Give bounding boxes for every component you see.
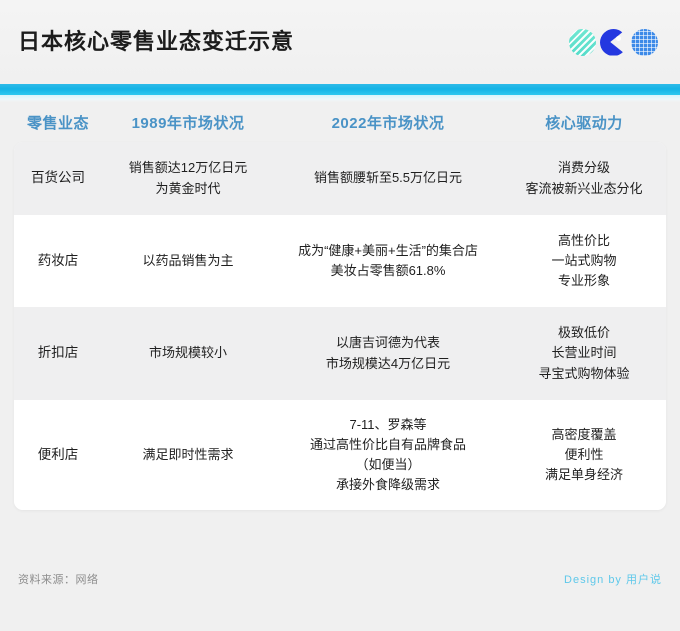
cell-line: 美妆占零售额61.8% <box>280 261 496 281</box>
cell-line: 市场规模较小 <box>108 343 268 363</box>
table-header-row: 零售业态 1989年市场状况 2022年市场状况 核心驱动力 <box>0 102 680 142</box>
cell-retail-format: 药妆店 <box>14 247 102 276</box>
striped-circle-icon <box>569 29 596 56</box>
cell-1989: 市场规模较小 <box>102 339 274 367</box>
cell-line: 满足单身经济 <box>508 465 660 485</box>
pacman-shape-icon <box>600 29 627 56</box>
cell-line: 专业形象 <box>508 271 660 291</box>
cell-line: 以药品销售为主 <box>108 251 268 271</box>
table-row: 药妆店 以药品销售为主 成为“健康+美丽+生活”的集合店 美妆占零售额61.8%… <box>14 215 666 307</box>
cell-line: 高性价比 <box>508 231 660 251</box>
cell-1989: 销售额达12万亿日元 为黄金时代 <box>102 154 274 202</box>
cell-retail-format: 百货公司 <box>14 164 102 193</box>
cell-line: 通过高性价比自有品牌食品 <box>280 435 496 455</box>
cell-retail-format: 折扣店 <box>14 339 102 368</box>
cell-drivers: 极致低价 长营业时间 寻宝式购物体验 <box>502 319 666 387</box>
column-header-drivers: 核心驱动力 <box>502 112 666 133</box>
pacman-eye <box>616 36 621 41</box>
table-row: 折扣店 市场规模较小 以唐吉诃德为代表 市场规模达4万亿日元 极致低价 长营业时… <box>14 307 666 400</box>
page-title: 日本核心零售业态变迁示意 <box>18 31 569 53</box>
cell-line: 消费分级 <box>508 158 660 178</box>
cell-line: 承接外食降级需求 <box>280 475 496 495</box>
cell-retail-format: 便利店 <box>14 441 102 470</box>
page-footer: 资料来源：网络 Design by 用户说 <box>0 543 680 631</box>
cell-line: 销售额腰斩至5.5万亿日元 <box>280 168 496 188</box>
table-row: 便利店 满足即时性需求 7-11、罗森等 通过高性价比自有品牌食品 （如便当） … <box>14 400 666 510</box>
cell-line: （如便当） <box>280 455 496 475</box>
cell-line: 极致低价 <box>508 323 660 343</box>
cell-line: 市场规模达4万亿日元 <box>280 354 496 374</box>
column-header-1989: 1989年市场状况 <box>102 112 274 133</box>
source-note: 资料来源：网络 <box>18 571 99 587</box>
cell-line: 满足即时性需求 <box>108 445 268 465</box>
cell-line: 便利性 <box>508 445 660 465</box>
cell-drivers: 消费分级 客流被新兴业态分化 <box>502 154 666 202</box>
cell-line: 客流被新兴业态分化 <box>508 179 660 199</box>
cell-line: 7-11、罗森等 <box>280 415 496 435</box>
design-credit: Design by 用户说 <box>564 571 662 587</box>
grid-circle-icon <box>631 29 658 56</box>
cell-2022: 销售额腰斩至5.5万亿日元 <box>274 164 502 192</box>
brand-logo <box>569 29 658 56</box>
page-header: 日本核心零售业态变迁示意 <box>0 0 680 84</box>
cell-line: 为黄金时代 <box>108 179 268 199</box>
cell-2022: 以唐吉诃德为代表 市场规模达4万亿日元 <box>274 329 502 377</box>
table-card: 百货公司 销售额达12万亿日元 为黄金时代 销售额腰斩至5.5万亿日元 消费分级… <box>14 142 666 510</box>
cell-line: 一站式购物 <box>508 251 660 271</box>
table-row: 百货公司 销售额达12万亿日元 为黄金时代 销售额腰斩至5.5万亿日元 消费分级… <box>14 142 666 215</box>
cell-line: 长营业时间 <box>508 343 660 363</box>
cell-1989: 以药品销售为主 <box>102 247 274 275</box>
cell-drivers: 高性价比 一站式购物 专业形象 <box>502 227 666 295</box>
accent-bar <box>0 84 680 95</box>
cell-line: 成为“健康+美丽+生活”的集合店 <box>280 241 496 261</box>
cell-line: 寻宝式购物体验 <box>508 364 660 384</box>
cell-2022: 7-11、罗森等 通过高性价比自有品牌食品 （如便当） 承接外食降级需求 <box>274 411 502 500</box>
column-header-2022: 2022年市场状况 <box>274 112 502 133</box>
pacman-body <box>600 29 627 56</box>
cell-1989: 满足即时性需求 <box>102 441 274 469</box>
cell-drivers: 高密度覆盖 便利性 满足单身经济 <box>502 421 666 489</box>
cell-2022: 成为“健康+美丽+生活”的集合店 美妆占零售额61.8% <box>274 237 502 285</box>
cell-line: 销售额达12万亿日元 <box>108 158 268 178</box>
cell-line: 以唐吉诃德为代表 <box>280 333 496 353</box>
cell-line: 高密度覆盖 <box>508 425 660 445</box>
column-header-retail-format: 零售业态 <box>14 112 102 133</box>
accent-bar-glow <box>0 95 680 102</box>
